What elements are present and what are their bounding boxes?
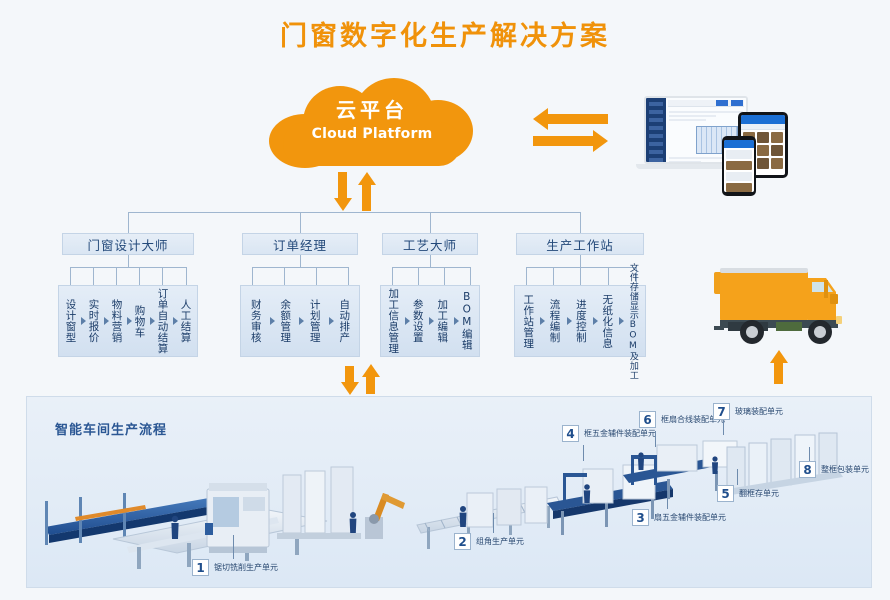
module-item-label: 财务审核 bbox=[250, 299, 262, 343]
module-item-label: 计划管理 bbox=[309, 299, 321, 343]
cloud-title-cn: 云平台 bbox=[267, 98, 477, 123]
module-item-label: 订单自动结算 bbox=[156, 288, 168, 354]
unit-leader-line bbox=[737, 469, 738, 485]
module-branch bbox=[284, 267, 285, 285]
module-item[interactable]: 物料营销 bbox=[105, 286, 128, 356]
module-branch bbox=[252, 267, 253, 285]
module-item[interactable]: 订单自动结算 bbox=[151, 286, 174, 356]
module-drop-line bbox=[300, 212, 301, 234]
module-rail bbox=[392, 267, 470, 268]
infographic-root: 门窗数字化生产解决方案 云平台 Cloud Platform bbox=[0, 0, 890, 600]
unit-leader-line bbox=[667, 491, 668, 509]
module-rail bbox=[526, 267, 636, 268]
module-branch bbox=[553, 267, 554, 285]
module-item[interactable]: 计划管理 bbox=[300, 286, 330, 356]
module-item[interactable]: 购物车 bbox=[128, 286, 151, 356]
module-branch bbox=[392, 267, 393, 285]
module-title: 生产工作站 bbox=[546, 235, 614, 254]
cloud-text-group: 云平台 Cloud Platform bbox=[267, 98, 477, 144]
delivery-truck bbox=[706, 258, 871, 350]
module-drop-line bbox=[128, 212, 129, 234]
module-rail bbox=[252, 267, 348, 268]
unit-label-8[interactable]: 8 整框包装单元 bbox=[799, 461, 869, 478]
unit-number: 2 bbox=[454, 533, 471, 550]
unit-leader-line bbox=[655, 431, 656, 447]
module-item[interactable]: 无纸化信息 bbox=[594, 286, 620, 356]
module-item-label: 购物车 bbox=[133, 305, 145, 338]
unit-number: 4 bbox=[562, 425, 579, 442]
module-stem bbox=[300, 255, 301, 267]
module-branch bbox=[418, 267, 419, 285]
module-bus-line bbox=[128, 212, 580, 213]
unit-number: 8 bbox=[799, 461, 816, 478]
workshop-panel: 智能车间生产流程 bbox=[26, 396, 872, 588]
unit-name: 扇五金辅件装配单元 bbox=[654, 512, 726, 523]
tablet-header bbox=[741, 115, 785, 124]
module-item-label: 自动排产 bbox=[338, 299, 350, 343]
module-item[interactable]: 加工编辑 bbox=[430, 286, 455, 356]
module-body-design: 设计窗型 实时报价 物料营销 购物车 订单自动结算 人工结算 bbox=[58, 285, 198, 357]
unit-name: 玻璃装配单元 bbox=[735, 406, 783, 417]
module-item[interactable]: 进度控制 bbox=[568, 286, 594, 356]
laptop-sidebar bbox=[646, 98, 666, 162]
module-item-label: 文件存储显示BOM及加工 bbox=[628, 263, 638, 380]
module-stem bbox=[580, 255, 581, 267]
unit-label-2[interactable]: 2 组角生产单元 bbox=[454, 533, 524, 550]
module-stem bbox=[430, 255, 431, 267]
module-body-process: 加工信息管理 参数设置 加工编辑 BOM编辑 bbox=[380, 285, 480, 357]
unit-label-1[interactable]: 1 锯切铣削生产单元 bbox=[192, 559, 278, 576]
module-branch bbox=[580, 267, 581, 285]
module-item-label: 实时报价 bbox=[87, 299, 99, 343]
unit-leader-line bbox=[493, 513, 494, 533]
module-item-label: 余额管理 bbox=[279, 299, 291, 343]
module-item[interactable]: 加工信息管理 bbox=[381, 286, 406, 356]
module-item-label: 人工结算 bbox=[179, 299, 191, 343]
module-item-label: 加工信息管理 bbox=[387, 288, 399, 354]
unit-leader-line bbox=[723, 419, 724, 435]
module-item[interactable]: 文件存储显示BOM及加工 bbox=[620, 286, 645, 356]
module-branch bbox=[526, 267, 527, 285]
unit-label-7[interactable]: 7 玻璃装配单元 bbox=[713, 403, 783, 420]
module-branch bbox=[316, 267, 317, 285]
module-item-label: 物料营销 bbox=[110, 299, 122, 343]
module-branch bbox=[93, 267, 94, 285]
unit-leader-line bbox=[583, 445, 584, 461]
module-item[interactable]: 实时报价 bbox=[82, 286, 105, 356]
unit-name: 整框包装单元 bbox=[821, 464, 869, 475]
module-item-label: 加工编辑 bbox=[436, 299, 448, 343]
cloud-platform-shape: 云平台 Cloud Platform bbox=[267, 78, 477, 170]
unit-name: 组角生产单元 bbox=[476, 536, 524, 547]
module-item[interactable]: 工作站管理 bbox=[515, 286, 541, 356]
module-item[interactable]: 设计窗型 bbox=[59, 286, 82, 356]
unit-number: 3 bbox=[632, 509, 649, 526]
module-item[interactable]: 自动排产 bbox=[330, 286, 360, 356]
phone-header bbox=[724, 140, 754, 148]
unit-name: 翻框存单元 bbox=[739, 488, 779, 499]
module-item[interactable]: 流程编制 bbox=[541, 286, 567, 356]
module-title: 订单经理 bbox=[273, 235, 327, 254]
module-item-label: 工作站管理 bbox=[522, 294, 534, 349]
module-branch bbox=[348, 267, 349, 285]
module-body-order: 财务审核 余额管理 计划管理 自动排产 bbox=[240, 285, 360, 357]
module-item[interactable]: 财务审核 bbox=[241, 286, 271, 356]
module-item[interactable]: 人工结算 bbox=[174, 286, 197, 356]
module-branch bbox=[70, 267, 71, 285]
unit-name: 框五金辅件装配单元 bbox=[584, 428, 656, 439]
module-branch bbox=[116, 267, 117, 285]
unit-name: 锯切铣削生产单元 bbox=[214, 562, 278, 573]
module-header-design[interactable]: 门窗设计大师 bbox=[62, 233, 194, 255]
module-stem bbox=[128, 255, 129, 267]
unit-number: 7 bbox=[713, 403, 730, 420]
module-item-label: 进度控制 bbox=[575, 299, 587, 343]
module-rail bbox=[70, 267, 186, 268]
module-branch bbox=[162, 267, 163, 285]
unit-number: 6 bbox=[639, 411, 656, 428]
module-header-workstation[interactable]: 生产工作站 bbox=[516, 233, 644, 255]
phone-screen bbox=[724, 140, 754, 192]
module-item[interactable]: 参数设置 bbox=[406, 286, 431, 356]
module-branch bbox=[470, 267, 471, 285]
module-title: 工艺大师 bbox=[403, 235, 457, 254]
module-item-label: BOM编辑 bbox=[461, 291, 473, 351]
module-item-label: 参数设置 bbox=[412, 299, 424, 343]
module-branch bbox=[444, 267, 445, 285]
module-title: 门窗设计大师 bbox=[87, 235, 168, 254]
module-item[interactable]: BOM编辑 bbox=[455, 286, 480, 356]
module-branch bbox=[139, 267, 140, 285]
module-item[interactable]: 余额管理 bbox=[271, 286, 301, 356]
module-branch bbox=[186, 267, 187, 285]
module-item-label: 设计窗型 bbox=[64, 299, 76, 343]
unit-label-3[interactable]: 3 扇五金辅件装配单元 bbox=[632, 509, 726, 526]
unit-number: 5 bbox=[717, 485, 734, 502]
unit-leader-line bbox=[233, 535, 234, 559]
module-item-label: 流程编制 bbox=[548, 299, 560, 343]
module-header-order[interactable]: 订单经理 bbox=[242, 233, 358, 255]
module-drop-line bbox=[580, 212, 581, 234]
phone-device bbox=[722, 136, 756, 196]
module-branch bbox=[608, 267, 609, 285]
module-drop-line bbox=[430, 212, 431, 234]
unit-leader-line bbox=[809, 447, 810, 461]
page-title: 门窗数字化生产解决方案 bbox=[0, 14, 890, 53]
cloud-title-en: Cloud Platform bbox=[267, 126, 477, 144]
module-header-process[interactable]: 工艺大师 bbox=[382, 233, 478, 255]
unit-number: 1 bbox=[192, 559, 209, 576]
unit-label-5[interactable]: 5 翻框存单元 bbox=[717, 485, 779, 502]
module-body-workstation: 工作站管理 流程编制 进度控制 无纸化信息 文件存储显示BOM及加工 bbox=[514, 285, 646, 357]
module-item-label: 无纸化信息 bbox=[601, 294, 613, 349]
